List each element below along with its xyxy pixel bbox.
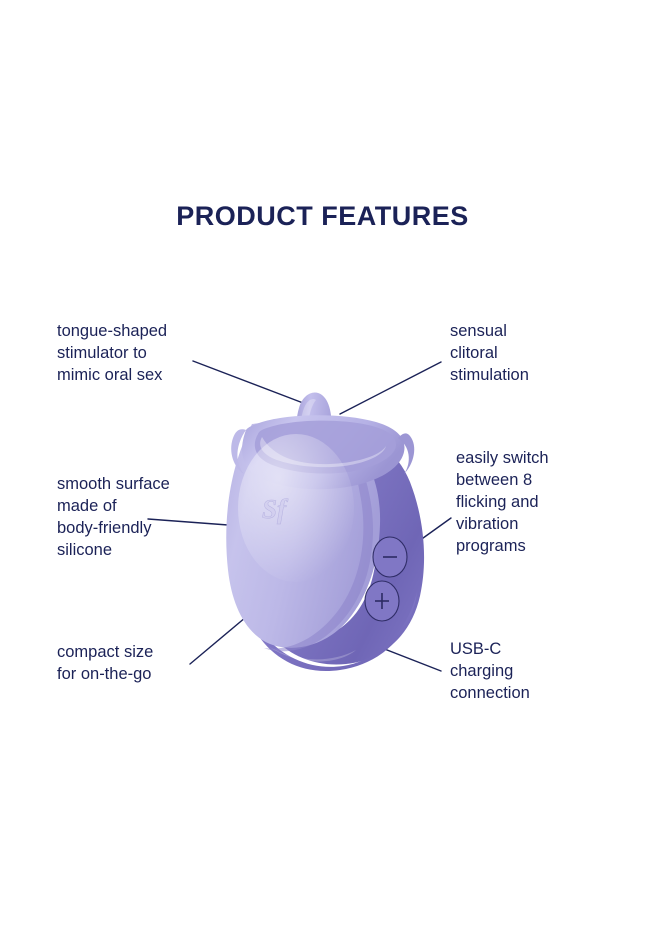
callout-sensual-clitoral-stimulation: sensual clitoral stimulation [450, 320, 630, 386]
minus-button[interactable] [373, 537, 407, 577]
leader-line-usb [364, 641, 441, 671]
leader-line-sensual [340, 362, 441, 414]
tongue-highlight [300, 399, 316, 464]
brand-logo: Sf [262, 494, 289, 524]
tongue-tip [296, 393, 332, 474]
callout-usb-c-charging: USB-C charging connection [450, 638, 630, 704]
device-body: Sf [226, 393, 424, 672]
device-collar-shine [260, 437, 386, 467]
brand-logo-text: Sf [262, 494, 289, 524]
callout-compact-size: compact size for on-the-go [57, 641, 247, 685]
callout-smooth-surface: smooth surface made of body-friendly sil… [57, 473, 252, 561]
device-dark-shell [276, 430, 424, 665]
callout-flicking-vibration-programs: easily switch between 8 flicking and vib… [456, 447, 636, 557]
plus-button[interactable] [365, 581, 399, 621]
device-collar-inner [255, 421, 396, 474]
product-features-infographic: PRODUCT FEATURES [0, 0, 645, 936]
device-base [243, 592, 417, 671]
device-collar-left-wing [231, 429, 246, 474]
device-body-sheen [238, 434, 354, 582]
page-title: PRODUCT FEATURES [0, 201, 645, 232]
device-collar-right-wing [398, 433, 414, 474]
leader-line-programs [398, 518, 451, 556]
device-collar [242, 415, 404, 489]
callout-tongue-shaped-stimulator: tongue-shaped stimulator to mimic oral s… [57, 320, 247, 386]
device-base-highlight [268, 646, 356, 662]
device-shell-edge [264, 444, 373, 651]
